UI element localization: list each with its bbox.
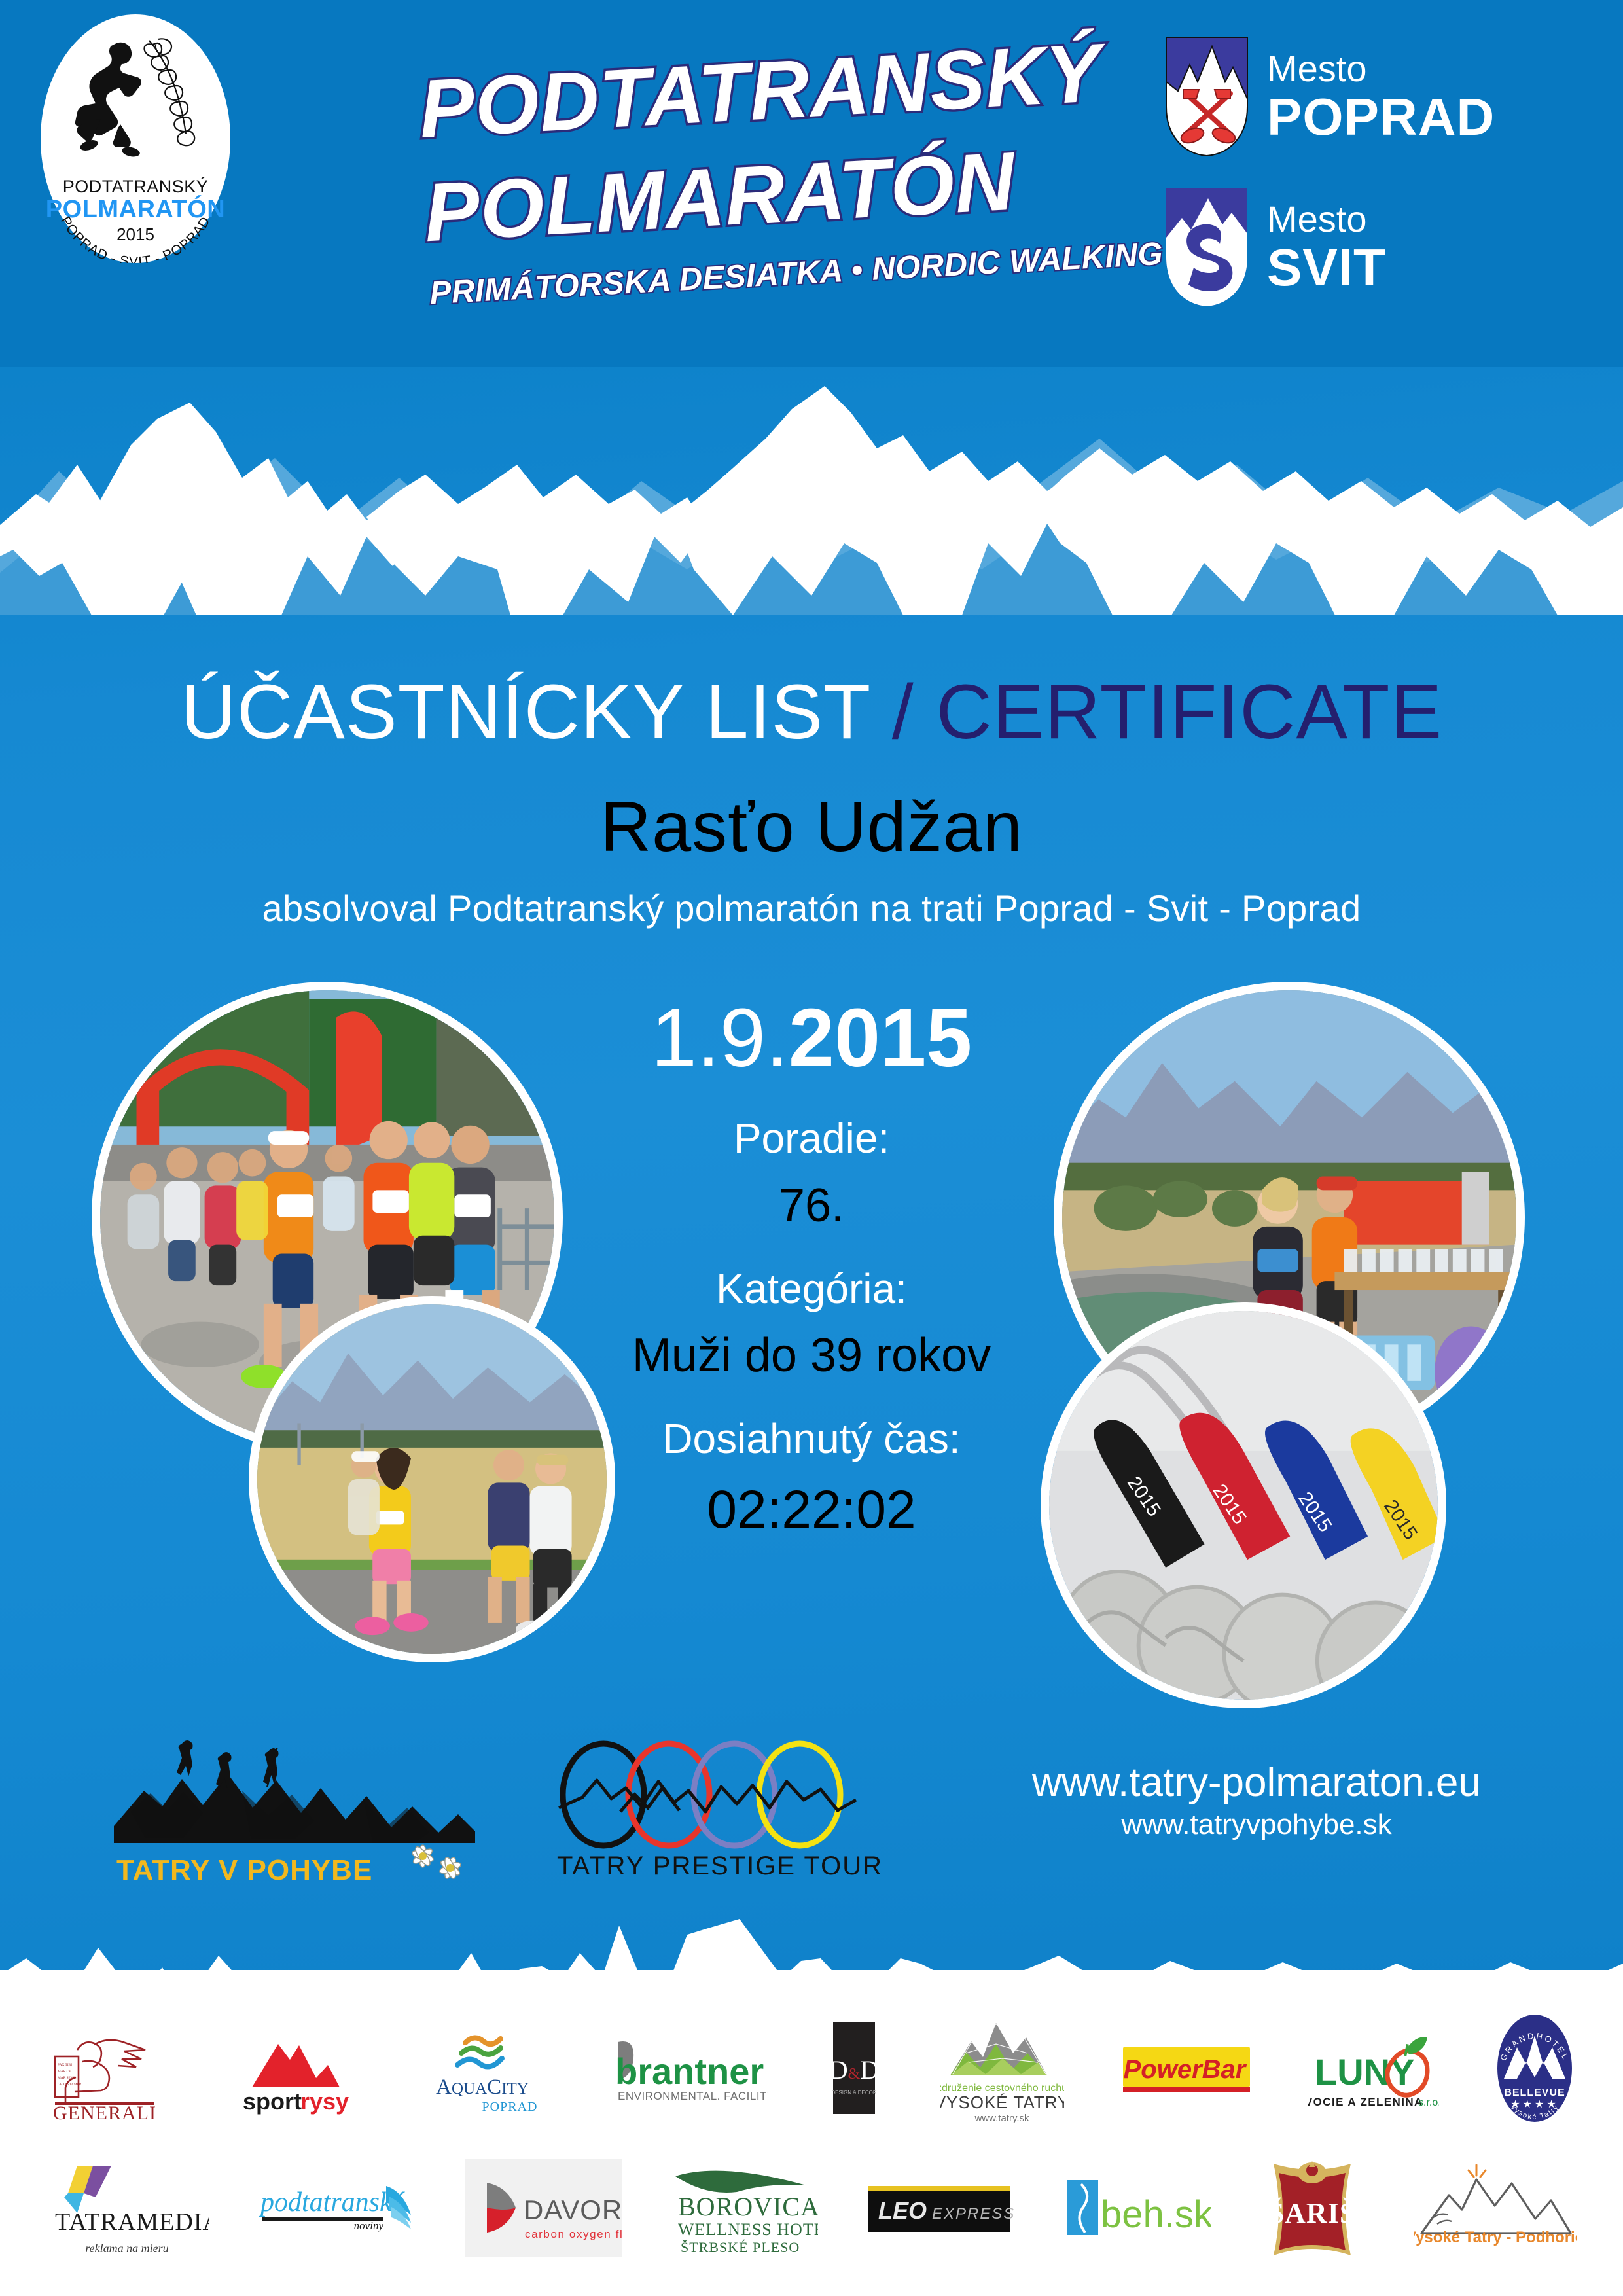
sponsor-vysoke-tatry-sub2: www.tatry.sk bbox=[974, 2113, 1030, 2124]
title-line-2: POLMARATÓN bbox=[422, 134, 1018, 260]
sponsor-generali-label: GENERALI bbox=[53, 2102, 156, 2121]
tatry-prestige-tour-logo: TATRY PRESTIGE TOUR bbox=[543, 1734, 897, 1892]
sponsor-brantner-sub: ENVIRONMENTAL. FACILITY SERVICES bbox=[618, 2090, 768, 2102]
city-small-label-svit: Mesto bbox=[1267, 201, 1386, 238]
svg-text:AQUACITY: AQUACITY bbox=[436, 2075, 529, 2099]
category-value: Muži do 39 rokov bbox=[550, 1330, 1073, 1382]
svg-text:POPRAD - SVIT - POPRAD: POPRAD - SVIT - POPRAD bbox=[58, 214, 213, 263]
event-title: PODTATRANSKÝ POLMARATÓN PRIMÁTORSKA DESI… bbox=[419, 39, 1113, 327]
sponsor-leo-express-sub: EXPRESS bbox=[932, 2205, 1014, 2223]
race-date: 1.9.2015 bbox=[550, 995, 1073, 1081]
svg-text:podtatranské: podtatranské bbox=[259, 2187, 406, 2217]
city-name-svit: SVIT bbox=[1267, 242, 1386, 294]
result-panel: 1.9.2015 Poradie: 76. Kategória: Muži do… bbox=[550, 995, 1073, 1539]
svg-text:DAVORIN: DAVORIN bbox=[524, 2195, 622, 2225]
emblem-arc-text: POPRAD - SVIT - POPRAD bbox=[41, 178, 230, 263]
sponsor-saris: ŠARIŠ bbox=[1257, 2140, 1368, 2278]
category-label: Kategória: bbox=[550, 1266, 1073, 1312]
athlete-name: Rasťo Udžan bbox=[0, 785, 1623, 867]
svg-text:TATRAMEDIA: TATRAMEDIA bbox=[55, 2208, 209, 2236]
sponsor-area: PAX TIBIMAR CEMAR SEVAGE LI STAMER GENER… bbox=[0, 1996, 1623, 2296]
svg-text:PowerBar: PowerBar bbox=[1123, 2055, 1247, 2084]
sponsor-vtp-label: Vysoké Tatry - Podhorie bbox=[1414, 2229, 1577, 2246]
rank-value: 76. bbox=[550, 1180, 1073, 1232]
sponsor-davorin-sub: carbon oxygen fluorine bbox=[525, 2228, 622, 2240]
svg-text:LEO: LEO bbox=[878, 2197, 927, 2224]
sponsor-lunys-sub2: s.r.o. bbox=[1418, 2097, 1439, 2108]
svg-text:PAX TIBI: PAX TIBI bbox=[58, 2063, 72, 2067]
sponsor-sportrysy: sport rysy bbox=[230, 1996, 361, 2140]
sponsor-generali: PAX TIBIMAR CEMAR SEVAGE LI STAMER GENER… bbox=[46, 1996, 177, 2140]
sponsor-podtatranske-noviny: podtatranské noviny bbox=[255, 2140, 419, 2278]
sponsor-borovica: ★★★★ BOROVICA® WELLNESS HOTEL ŠTRBSKÉ PL… bbox=[668, 2140, 818, 2278]
photo-medals-image: 2015 2015 2015 2015 bbox=[1049, 1311, 1438, 1700]
photo-medals: 2015 2015 2015 2015 bbox=[1041, 1302, 1446, 1708]
city-logo-poprad: Mesto POPRAD bbox=[1165, 36, 1495, 157]
certificate-heading-en: CERTIFICATE bbox=[936, 669, 1442, 755]
sponsor-bellevue-label: BELLEVUE bbox=[1504, 2087, 1565, 2098]
sponsor-podtatranske-sub: noviny bbox=[354, 2219, 384, 2232]
sponsor-powerbar: PowerBar bbox=[1118, 1996, 1255, 2140]
svg-text:ŠARIŠ: ŠARIŠ bbox=[1268, 2197, 1357, 2229]
edelweiss-flower-icon bbox=[411, 1845, 462, 1880]
sponsor-brantner: brantner ENVIRONMENTAL. FACILITY SERVICE… bbox=[605, 1996, 768, 2140]
city-small-label-poprad: Mesto bbox=[1267, 50, 1495, 87]
svg-text:brantner: brantner bbox=[615, 2051, 764, 2092]
svg-text:★★★★: ★★★★ bbox=[720, 2174, 765, 2185]
tatry-v-pohybe-label: TATRY V POHYBE bbox=[116, 1854, 372, 1886]
sponsor-d-and-d-sub: DESIGN & DECOR bbox=[831, 2090, 877, 2096]
sponsor-row-2: TATRAMEDIA reklama na mieru podtatranské… bbox=[0, 2140, 1623, 2278]
time-value: 02:22:02 bbox=[550, 1480, 1073, 1539]
svg-text:beh.sk: beh.sk bbox=[1101, 2193, 1211, 2236]
sponsor-row-1: PAX TIBIMAR CEMAR SEVAGE LI STAMER GENER… bbox=[0, 1996, 1623, 2140]
svg-text:sport: sport bbox=[243, 2088, 302, 2115]
sponsor-davorin: DAVORIN carbon oxygen fluorine bbox=[465, 2140, 622, 2278]
sponsor-vysoke-tatry-podhorie: Vysoké Tatry - Podhorie bbox=[1414, 2140, 1577, 2278]
race-date-year: 2015 bbox=[789, 992, 972, 1084]
sponsor-aquacity: AQUACITY POPRAD bbox=[414, 1996, 552, 2140]
website-urls: www.tatry-polmaraton.eu www.tatryvpohybe… bbox=[969, 1761, 1544, 1844]
mountain-range-graphic bbox=[0, 340, 1623, 615]
url-primary[interactable]: www.tatry-polmaraton.eu bbox=[969, 1761, 1544, 1805]
rank-label: Poradie: bbox=[550, 1115, 1073, 1161]
sponsor-vysoke-tatry: združenie cestovného ruchu VYSOKÉ TATRY … bbox=[940, 1996, 1064, 2140]
sponsor-d-and-d: D&D DESIGN & DECOR bbox=[821, 1996, 887, 2140]
sponsor-borovica-sub: WELLNESS HOTEL bbox=[678, 2220, 818, 2239]
event-emblem: PODTATRANSKÝ POLMARATÓN 2015 POPRAD - SV… bbox=[41, 14, 230, 263]
svg-text:GE LI STAMER: GE LI STAMER bbox=[58, 2083, 82, 2087]
race-date-day: 1.9. bbox=[651, 992, 789, 1084]
certificate-description: absolvoval Podtatranský polmaratón na tr… bbox=[0, 887, 1623, 929]
sponsor-leo-express: LEO EXPRESS bbox=[864, 2140, 1014, 2278]
sponsor-vysoke-tatry-label: VYSOKÉ TATRY bbox=[940, 2092, 1064, 2112]
certificate-heading-sep: / bbox=[870, 669, 936, 755]
sponsor-tatramedia-sub: reklama na mieru bbox=[85, 2242, 168, 2255]
sponsor-behsk: beh.sk bbox=[1060, 2140, 1211, 2278]
tatry-v-pohybe-logo: TATRY V POHYBE bbox=[105, 1728, 491, 1892]
url-secondary[interactable]: www.tatryvpohybe.sk bbox=[969, 1805, 1544, 1844]
city-name-poprad: POPRAD bbox=[1267, 91, 1495, 143]
svg-text:BOROVICA®: BOROVICA® bbox=[678, 2192, 818, 2221]
svg-text:MAR CE: MAR CE bbox=[58, 2070, 71, 2073]
sponsor-borovica-sub2: ŠTRBSKÉ PLESO bbox=[681, 2239, 800, 2255]
svit-crest-icon bbox=[1165, 187, 1249, 308]
sponsor-aquacity-sub: POPRAD bbox=[482, 2100, 537, 2114]
sponsor-tatramedia: TATRAMEDIA reklama na mieru bbox=[46, 2140, 209, 2278]
tatry-prestige-tour-label: TATRY PRESTIGE TOUR bbox=[557, 1852, 883, 1880]
city-logo-svit: Mesto SVIT bbox=[1165, 187, 1386, 308]
poprad-crest-icon bbox=[1165, 36, 1249, 157]
time-label: Dosiahnutý čas: bbox=[550, 1416, 1073, 1462]
certificate-page: PODTATRANSKÝ POLMARATÓN 2015 POPRAD - SV… bbox=[0, 0, 1623, 2296]
svg-text:LUNY: LUNY bbox=[1315, 2051, 1414, 2092]
certificate-heading-sk: ÚČASTNÍCKY LIST bbox=[181, 669, 870, 755]
sponsor-grandhotel-bellevue: GRANDHOTEL BELLEVUE ★★★★ Vysoké Tatry bbox=[1492, 1996, 1577, 2140]
page-title: ÚČASTNÍCKY LIST / CERTIFICATE bbox=[0, 668, 1623, 757]
sponsor-lunys: LUNY OVOCIE A ZELENINA s.r.o. bbox=[1308, 1996, 1439, 2140]
svg-text:rysy: rysy bbox=[300, 2088, 349, 2115]
laurel-branch-icon bbox=[139, 35, 217, 153]
svg-text:MAR SEVA: MAR SEVA bbox=[58, 2076, 75, 2080]
sponsor-lunys-sub: OVOCIE A ZELENINA bbox=[1308, 2096, 1423, 2108]
